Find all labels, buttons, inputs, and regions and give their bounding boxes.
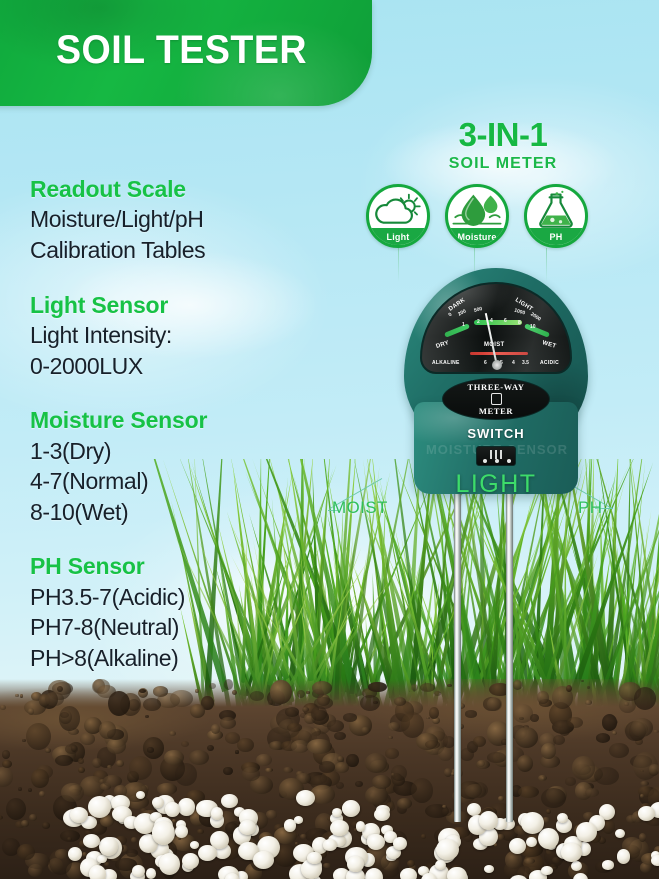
soil-clod — [15, 694, 18, 698]
soil-clod — [220, 717, 236, 729]
soil-clod — [566, 685, 572, 692]
soil-clod — [6, 798, 26, 820]
fertilizer-pellet — [436, 839, 459, 861]
soil-clod — [92, 758, 101, 768]
soil-clod — [653, 730, 658, 733]
fertilizer-pellet — [97, 855, 106, 863]
soil-clod — [268, 700, 272, 704]
switch-position-dot[interactable] — [483, 459, 487, 463]
probe-right — [506, 492, 513, 822]
soil-clod — [585, 700, 591, 705]
dial-number: 6 — [484, 360, 487, 366]
soil-clod — [460, 748, 474, 761]
fertilizer-pellet — [521, 812, 544, 834]
soil-clod — [594, 767, 619, 785]
soil-clod — [631, 718, 653, 737]
spec-line: Calibration Tables — [30, 235, 330, 266]
fertilizer-pellet — [571, 861, 582, 872]
fertilizer-pellet — [541, 866, 553, 876]
soil-clod — [334, 732, 345, 740]
fertilizer-pellet — [479, 811, 499, 830]
meter-nameplate: THREE-WAY METER — [442, 378, 550, 420]
soil-clod — [67, 837, 72, 841]
fertilizer-pellet — [557, 813, 568, 823]
soil-clod — [361, 727, 369, 733]
fertilizer-pellet — [307, 852, 321, 864]
dial-number: 8 — [518, 320, 521, 326]
spec-heading: PH Sensor — [30, 552, 330, 581]
probe-left — [454, 492, 461, 822]
spec-block-ph-sensor: PH Sensor PH3.5-7(Acidic) PH7-8(Neutral)… — [30, 552, 330, 673]
fertilizer-pellet — [165, 802, 180, 817]
soil-clod — [319, 761, 336, 772]
soil-clod — [116, 760, 124, 767]
spec-line: PH>8(Alkaline) — [30, 643, 330, 674]
soil-clod — [355, 781, 363, 788]
sun-behind-cloud-icon — [369, 188, 427, 232]
fertilizer-pellet — [99, 837, 118, 856]
fertilizer-pellet — [159, 853, 180, 875]
soil-clod — [237, 738, 254, 752]
dial-number: 200 — [457, 308, 467, 317]
soil-clod — [28, 788, 32, 792]
dial-scale-band-center — [474, 320, 522, 325]
soil-clod — [78, 758, 83, 764]
fertilizer-pellet — [421, 873, 437, 879]
spec-line: Moisture/Light/pH — [30, 204, 330, 235]
spec-line: 0-2000LUX — [30, 351, 330, 382]
soil-clod — [129, 756, 152, 780]
dial-label-moist: MOIST — [484, 342, 505, 348]
soil-clod — [207, 745, 213, 751]
soil-clod — [314, 697, 333, 708]
nameplate-top-text: THREE-WAY — [467, 382, 524, 392]
soil-clod — [0, 767, 13, 787]
dial-number: 10 — [530, 324, 536, 330]
dial-number: 2000 — [529, 311, 542, 322]
fertilizer-pellet — [367, 834, 385, 850]
fertilizer-pellet — [70, 807, 88, 823]
soil-clod — [581, 680, 584, 682]
soil-clod — [181, 741, 189, 747]
soil-clod — [572, 756, 594, 779]
soil-clod — [335, 762, 349, 773]
fertilizer-pellet — [400, 868, 417, 879]
soil-clod — [567, 717, 583, 728]
soil-clod — [407, 860, 415, 867]
dial-number: 4 — [512, 360, 515, 366]
soil-clod — [372, 775, 391, 788]
fertilizer-pellet — [239, 820, 256, 835]
soil-clod — [541, 743, 556, 759]
soil-clod — [397, 798, 412, 809]
spec-block-light-sensor: Light Sensor Light Intensity: 0-2000LUX — [30, 291, 330, 382]
soil-clod — [61, 783, 84, 803]
fertilizer-pellet — [561, 843, 582, 862]
soil-clod — [197, 829, 204, 834]
soil-clod — [442, 807, 452, 816]
soil-clod — [287, 723, 302, 731]
soil-clod — [307, 739, 332, 753]
badge-label-moisture: Moisture — [448, 228, 506, 245]
soil-clod — [39, 791, 45, 798]
fertilizer-pellet — [221, 794, 238, 809]
fertilizer-pellet — [136, 791, 145, 799]
fertilizer-pellet — [617, 849, 631, 864]
soil-clod — [411, 778, 434, 803]
dial-number: 6 — [504, 318, 507, 324]
dial-label-alkaline: ALKALINE — [432, 360, 460, 366]
dial-scale-band-right — [524, 323, 550, 337]
soil-clod — [438, 747, 453, 761]
fertilizer-pellet — [447, 867, 466, 879]
spec-line: 4-7(Normal) — [30, 466, 330, 497]
dial-number: 4 — [490, 318, 493, 324]
soil-clod — [394, 697, 406, 706]
soil-clod — [107, 765, 112, 769]
dial-label-dry: DRY — [435, 340, 450, 350]
fertilizer-pellet — [182, 853, 199, 869]
nameplate-bottom-text: METER — [479, 406, 513, 416]
dial-number: 1 — [462, 322, 465, 328]
badge-ph[interactable]: PH — [524, 184, 588, 248]
switch-lever — [500, 450, 502, 459]
soil-clod — [443, 736, 455, 748]
soil-layer: (function(){ const S=document.currentScr… — [0, 679, 659, 879]
soil-clod — [411, 684, 418, 691]
soil-clod — [285, 707, 298, 717]
fertilizer-pellet — [89, 865, 107, 879]
soil-clod — [31, 769, 49, 789]
soil-clod — [434, 691, 441, 696]
soil-clod — [21, 820, 29, 826]
fertilizer-pellet — [190, 841, 199, 849]
fertilizer-pellet — [152, 797, 164, 808]
fertilizer-pellet — [152, 821, 175, 845]
soil-clod — [513, 704, 533, 723]
callout-moist: MOIST — [332, 498, 388, 518]
dial-scale-band-left — [444, 323, 470, 337]
feature-badge-row: Light Moisture PH — [366, 184, 588, 248]
soil-clod — [513, 680, 522, 689]
spec-line: PH7-8(Neutral) — [30, 612, 330, 643]
soil-clod — [537, 691, 548, 704]
switch-position-dot[interactable] — [495, 459, 499, 463]
switch-label: SWITCH — [398, 426, 594, 441]
soil-clod — [55, 755, 73, 766]
soil-clod — [609, 743, 629, 758]
product-kicker: 3-IN-1 SOIL METER — [383, 118, 623, 173]
soil-clod — [487, 697, 502, 711]
spec-line: Light Intensity: — [30, 320, 330, 351]
soil-clod — [368, 682, 386, 693]
soil-clod — [157, 783, 177, 794]
fertilizer-pellet — [146, 868, 156, 879]
fertilizer-pellet — [651, 855, 659, 866]
soil-clod — [447, 684, 452, 687]
soil-clod — [18, 787, 22, 791]
soil-clod — [498, 796, 505, 801]
kicker-headline: 3-IN-1 — [383, 118, 623, 153]
badge-moisture[interactable]: Moisture — [445, 184, 509, 248]
soil-clod — [45, 748, 51, 753]
fertilizer-pellet — [68, 847, 82, 861]
fertilizer-pellet — [615, 829, 625, 838]
spec-heading: Light Sensor — [30, 291, 330, 320]
mode-label-light: LIGHT — [398, 470, 594, 499]
fertilizer-pellet — [435, 860, 446, 870]
fertilizer-pellet — [602, 860, 613, 869]
dial-label-wet: WET — [541, 340, 556, 350]
soil-clod — [541, 788, 566, 808]
soil-clod — [327, 720, 344, 732]
soil-clod — [0, 705, 5, 710]
flask-icon — [527, 188, 585, 232]
dial-number: 3.5 — [522, 360, 529, 366]
spec-block-readout-scale: Readout Scale Moisture/Light/pH Calibrat… — [30, 175, 330, 266]
soil-clod — [189, 750, 209, 765]
infographic-canvas: (function(){ const L = document.currentS… — [0, 0, 659, 879]
dial-number: 0 — [447, 312, 453, 318]
soil-clod — [17, 844, 35, 861]
soil-clod — [465, 784, 486, 798]
switch-lever — [495, 450, 497, 459]
soil-clod — [360, 695, 380, 711]
soil-clod — [602, 714, 618, 731]
switch-position-dot[interactable] — [507, 459, 511, 463]
fertilizer-pellet — [573, 873, 588, 879]
badge-label-ph: PH — [527, 228, 585, 245]
fertilizer-pellet — [374, 808, 390, 822]
dial-number: 2 — [477, 319, 480, 325]
fertilizer-pellet — [576, 822, 597, 843]
soil-clod — [78, 767, 84, 773]
soil-clod — [612, 731, 617, 735]
soil-clod — [343, 713, 357, 722]
fertilizer-pellet — [132, 865, 145, 877]
spec-block-moisture-sensor: Moisture Sensor 1-3(Dry) 4-7(Normal) 8-1… — [30, 406, 330, 527]
soil-clod — [104, 862, 111, 866]
soil-clod — [365, 786, 388, 805]
soil-clod — [385, 748, 399, 759]
soil-clod — [517, 755, 533, 772]
soil-clod — [131, 837, 137, 843]
fertilizer-pellet — [638, 806, 655, 821]
soil-clod — [585, 788, 599, 797]
fertilizer-pellet — [198, 845, 217, 861]
soil-clod — [143, 698, 160, 711]
soil-clod — [425, 740, 440, 749]
soil-clod — [29, 814, 37, 821]
fertilizer-pellet — [342, 800, 360, 817]
soil-clod — [2, 760, 13, 768]
fertilizer-pellet — [296, 790, 315, 806]
soil-clod — [99, 721, 117, 739]
fertilizer-pellet — [284, 819, 296, 831]
soil-clod — [477, 760, 485, 767]
soil-clod — [175, 763, 197, 786]
soil-clod — [107, 738, 126, 754]
soil-clod — [337, 756, 344, 761]
soil-clod — [565, 777, 575, 785]
switch-lever — [490, 450, 492, 459]
soil-clod — [518, 786, 539, 798]
soil-clod — [80, 733, 95, 745]
fertilizer-pellet — [467, 803, 482, 816]
spec-line: PH3.5-7(Acidic) — [30, 582, 330, 613]
soil-clod — [164, 750, 184, 765]
soil-clod — [211, 724, 220, 733]
fertilizer-pellet — [211, 807, 223, 820]
soil-clod — [2, 750, 10, 758]
badge-light[interactable]: Light — [366, 184, 430, 248]
fertilizer-pellet — [323, 839, 337, 850]
soil-clod — [28, 708, 35, 715]
soil-clod — [59, 706, 80, 731]
soil-clod — [235, 750, 238, 753]
fertilizer-pellet — [178, 798, 195, 815]
dial-number: 500 — [473, 306, 483, 314]
soil-clod — [336, 782, 344, 789]
soil-clod — [524, 858, 534, 864]
soil-clod — [546, 809, 551, 814]
meter-glyph-icon — [491, 393, 502, 405]
soil-clod — [42, 822, 51, 829]
soil-clod — [26, 723, 51, 750]
soil-clod — [190, 704, 205, 717]
spec-heading: Moisture Sensor — [30, 406, 330, 435]
dial-scale-band-red — [470, 352, 528, 355]
soil-clod — [465, 710, 477, 717]
dial-needle-hub — [492, 360, 502, 370]
badge-label-light: Light — [369, 228, 427, 245]
spec-line: 1-3(Dry) — [30, 436, 330, 467]
fertilizer-pellet — [175, 825, 188, 838]
mode-switch[interactable] — [476, 446, 516, 466]
fertilizer-pellet — [484, 865, 494, 873]
soil-clod — [596, 733, 611, 743]
soil-clod — [302, 707, 310, 712]
soil-clod — [223, 767, 233, 776]
soil-clod — [283, 767, 293, 773]
fertilizer-pellet — [253, 851, 274, 869]
page-title: SOIL TESTER — [56, 30, 307, 70]
fertilizer-pellet — [393, 837, 407, 850]
callout-ph: PH — [578, 498, 602, 518]
soil-clod — [265, 768, 273, 773]
kicker-subheadline: SOIL METER — [383, 155, 623, 173]
soil-clod — [421, 834, 426, 838]
dial-label-acidic: ACIDIC — [540, 360, 559, 366]
fertilizer-pellet — [332, 808, 342, 817]
soil-clod — [323, 863, 331, 868]
fertilizer-pellet — [347, 856, 363, 871]
soil-clod — [640, 781, 649, 786]
spec-heading: Readout Scale — [30, 175, 330, 204]
fertilizer-pellet — [356, 821, 366, 831]
water-droplet-leaf-icon — [448, 188, 506, 232]
soil-clod — [0, 815, 3, 820]
spec-line: 8-10(Wet) — [30, 497, 330, 528]
soil-meter-device: DARK LIGHT 0 200 500 1000 2000 1 2 4 6 8… — [398, 268, 594, 508]
soil-clod — [649, 764, 659, 775]
spec-list: Readout Scale Moisture/Light/pH Calibrat… — [30, 175, 330, 699]
